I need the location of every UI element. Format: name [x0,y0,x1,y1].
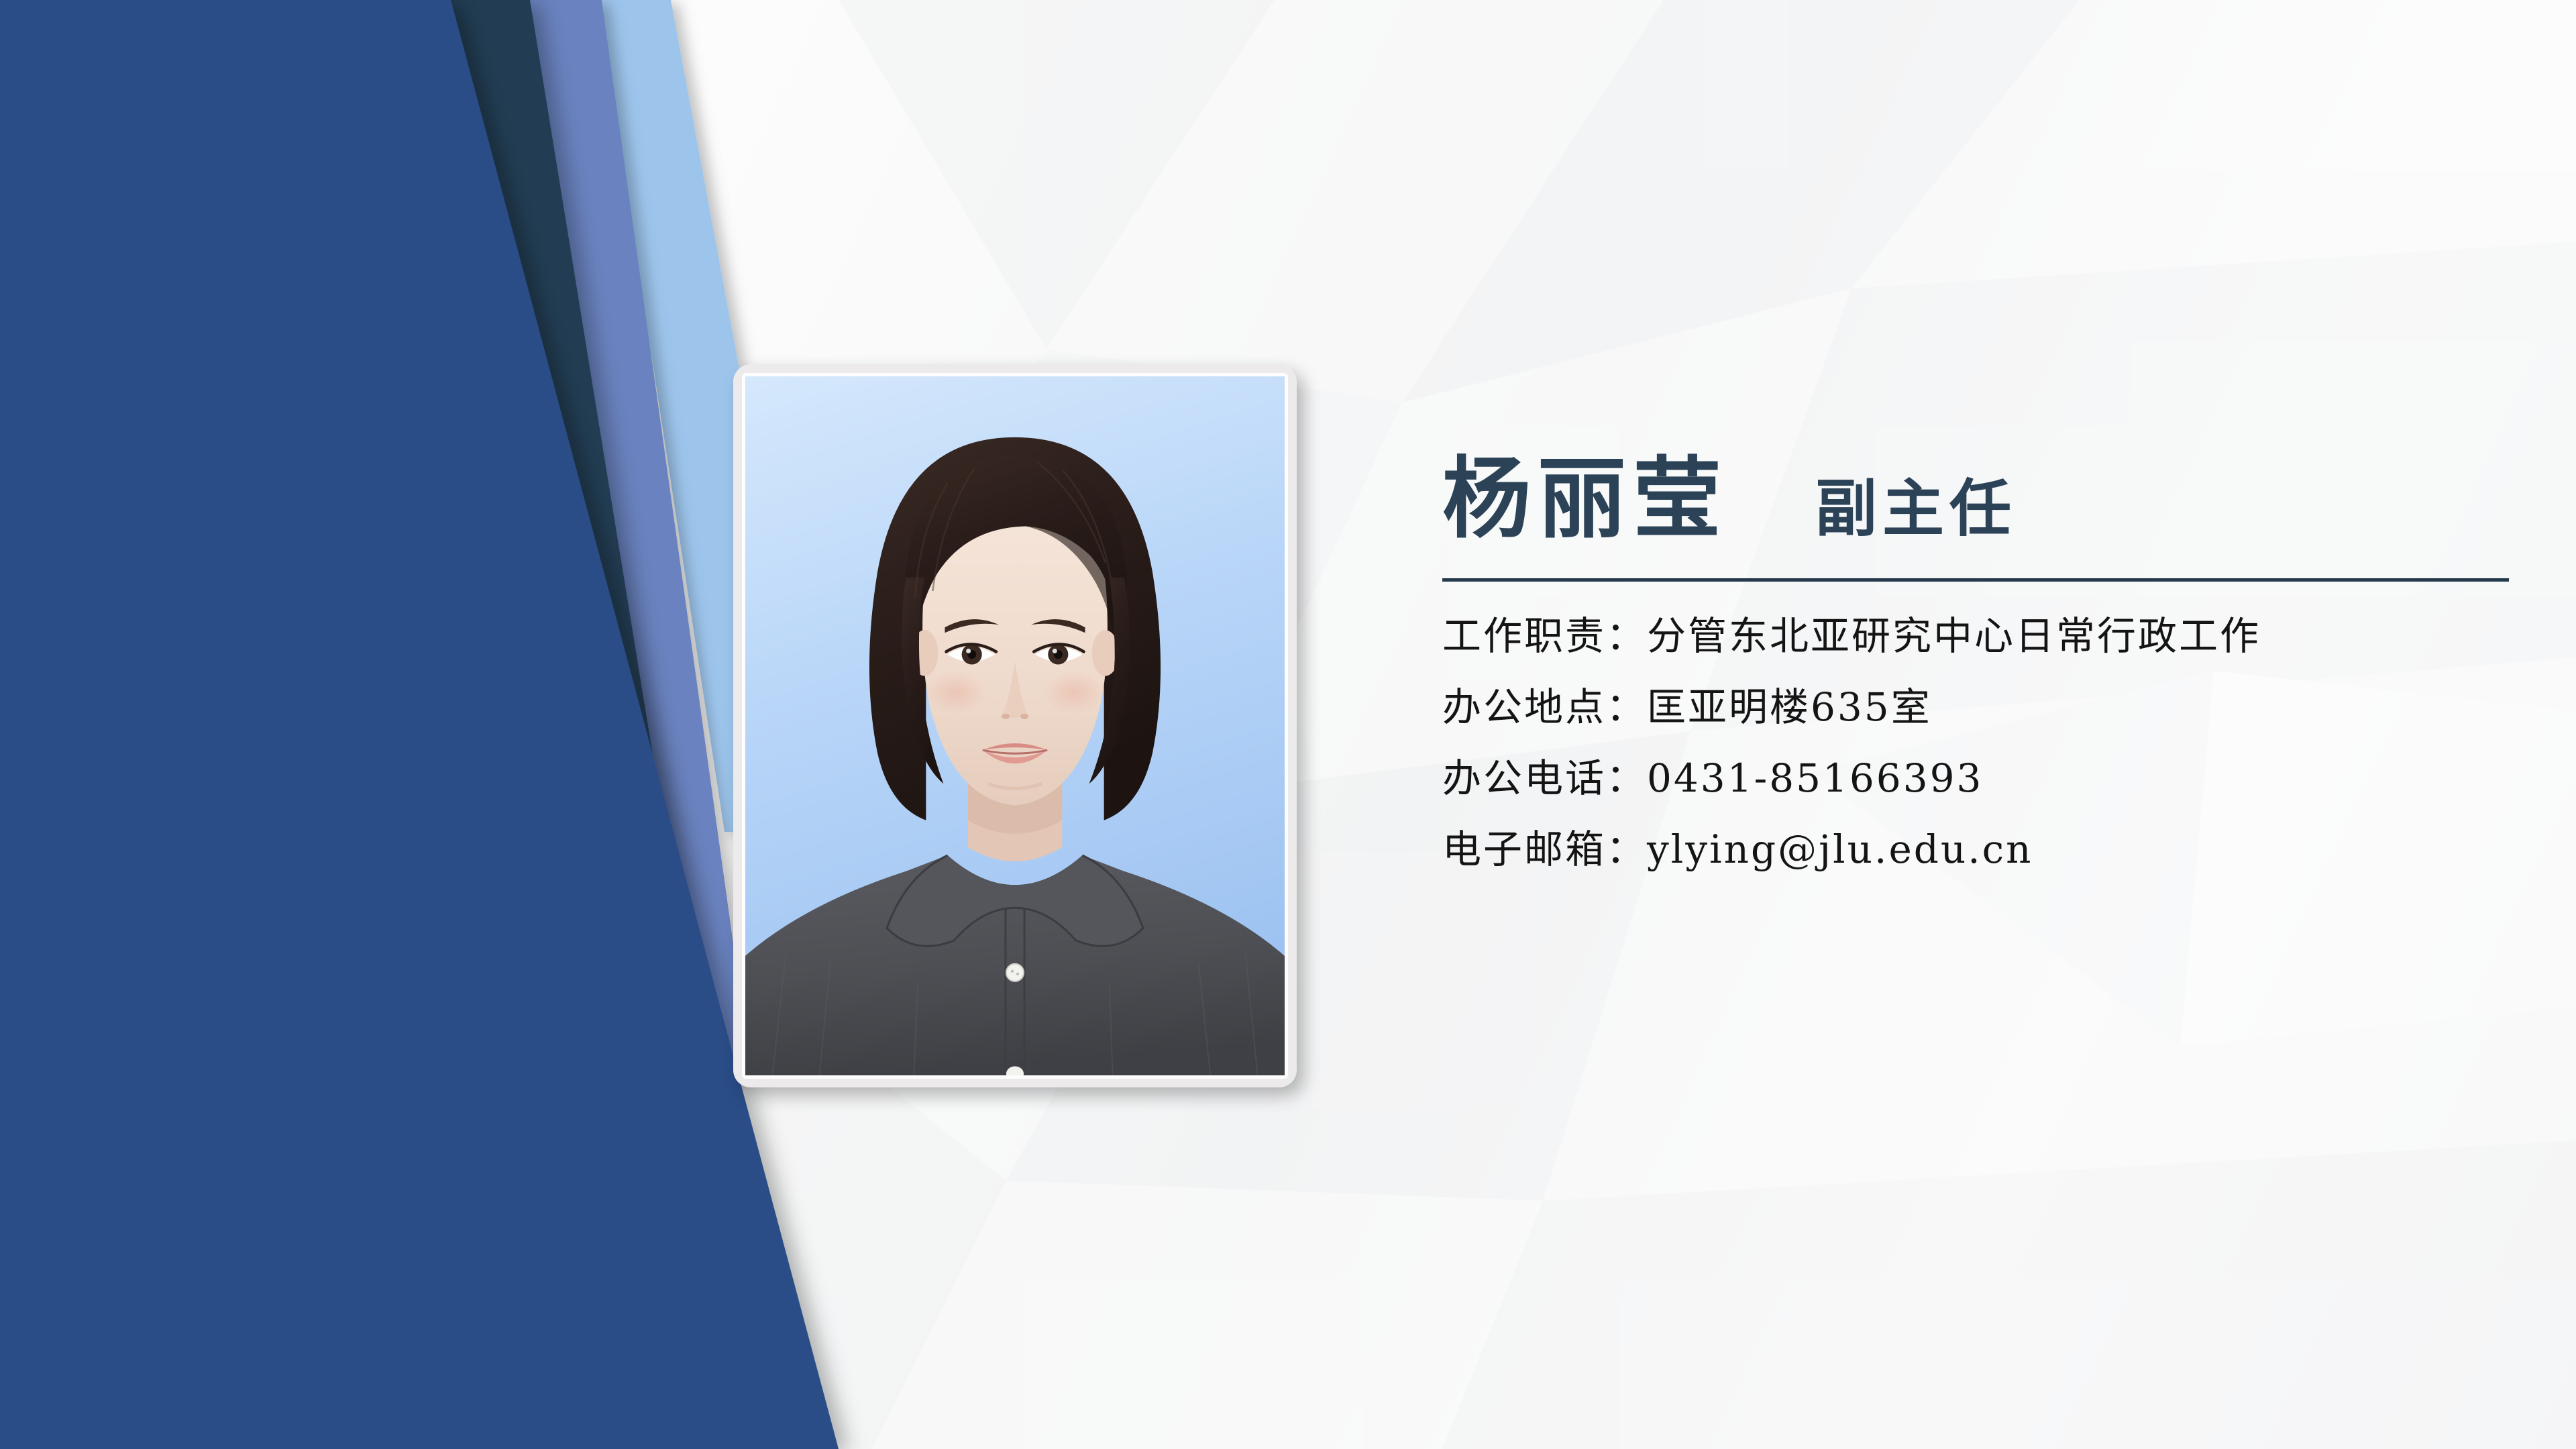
page-title: 杨丽莹 [1442,455,1728,543]
profile-slide: 杨丽莹 副主任 工作职责：分管东北亚研究中心日常行政工作 办公地点：匡亚明楼63… [0,0,2576,1449]
name-row: 杨丽莹 副主任 [1442,402,2516,543]
portrait-photo [745,376,1285,1075]
portrait-card [733,364,1297,1087]
detail-email: 电子邮箱：ylying@jlu.edu.cn [1442,830,2516,869]
profile-info: 杨丽莹 副主任 工作职责：分管东北亚研究中心日常行政工作 办公地点：匡亚明楼63… [1442,402,2516,901]
detail-office-location: 办公地点：匡亚明楼635室 [1442,688,2516,727]
portrait-frame [742,373,1288,1079]
divider [1442,578,2509,582]
person-role-title: 副主任 [1815,478,2017,539]
detail-responsibilities: 工作职责：分管东北亚研究中心日常行政工作 [1442,616,2516,655]
detail-list: 工作职责：分管东北亚研究中心日常行政工作 办公地点：匡亚明楼635室 办公电话：… [1442,616,2516,869]
detail-office-phone: 办公电话：0431-85166393 [1442,759,2516,798]
